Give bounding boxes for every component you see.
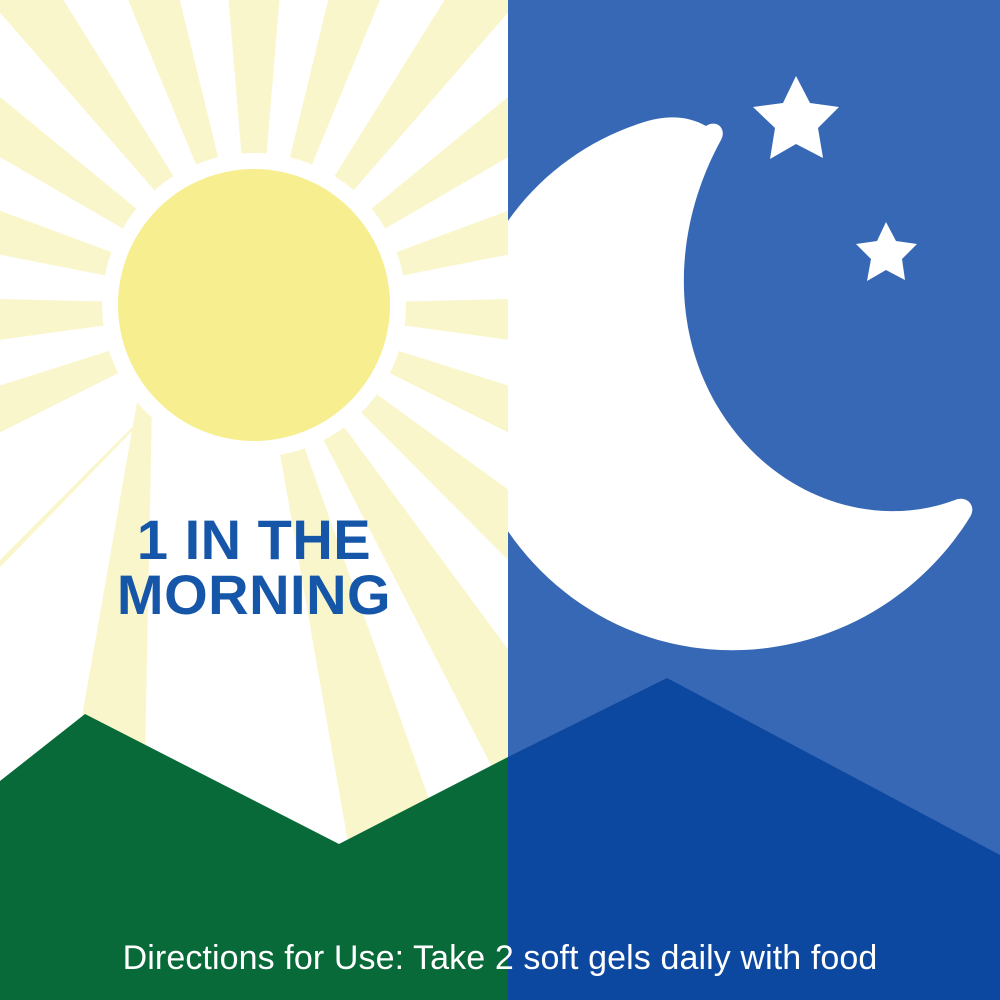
directions-band: Directions for Use: Take 2 soft gels dai…	[0, 917, 1000, 1000]
directions-text: Directions for Use: Take 2 soft gels dai…	[0, 917, 1000, 1000]
illustration-stage	[0, 0, 1000, 1000]
sun-icon	[102, 153, 406, 457]
poster-canvas: 1 IN THE MORNING 1 IN THE EVENING Direct…	[0, 0, 1000, 1000]
evening-headline: 1 IN THE EVENING	[508, 513, 1000, 623]
morning-headline: 1 IN THE MORNING	[0, 513, 508, 623]
